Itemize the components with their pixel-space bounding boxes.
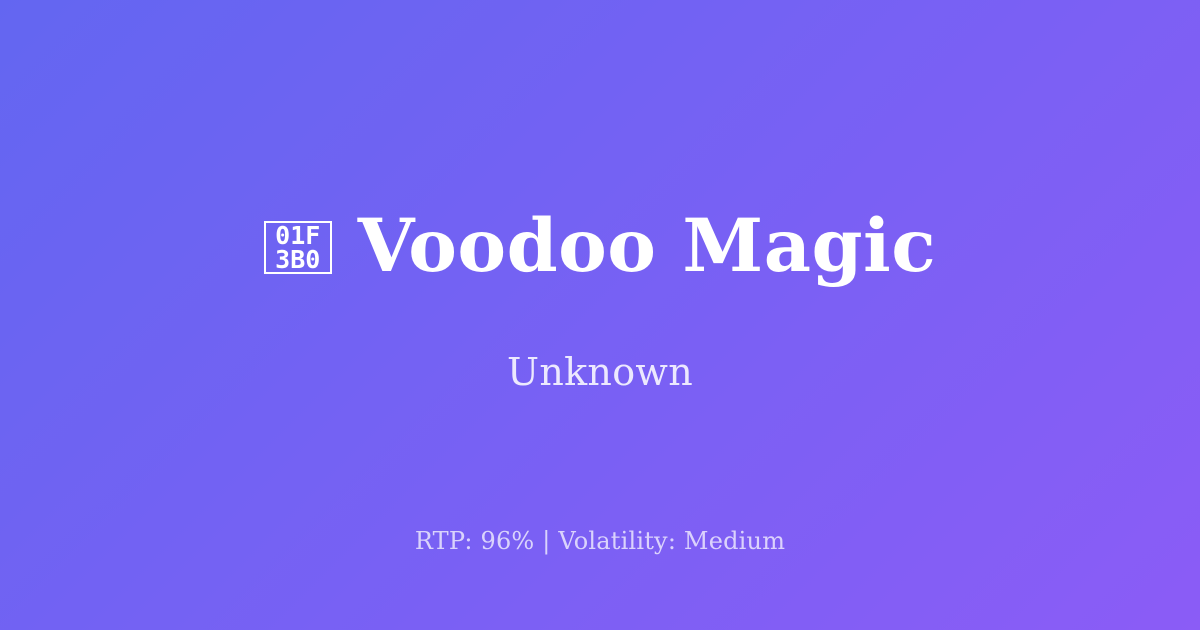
tofu-codepoint-lower: 3B0	[275, 248, 320, 272]
title-row: 01F 3B0 Voodoo Magic	[264, 210, 937, 283]
og-card: 01F 3B0 Voodoo Magic Unknown RTP: 96% | …	[0, 0, 1200, 630]
page-title: Voodoo Magic	[358, 210, 937, 283]
slot-machine-emoji-missing-glyph-icon: 01F 3B0	[264, 221, 332, 274]
page-subtitle: Unknown	[507, 283, 693, 391]
game-stats-line: RTP: 96% | Volatility: Medium	[0, 529, 1200, 553]
hero-block: 01F 3B0 Voodoo Magic Unknown	[264, 210, 937, 391]
